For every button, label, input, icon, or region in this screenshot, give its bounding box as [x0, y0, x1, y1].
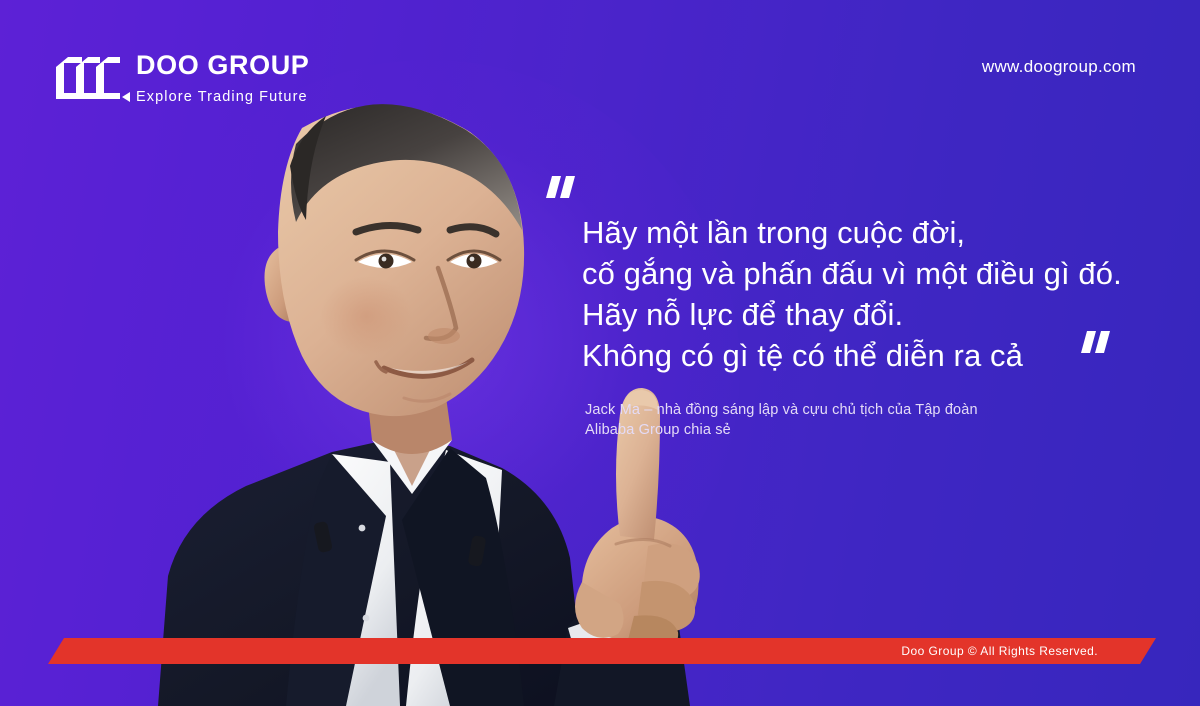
attribution-line: Alibaba Group chia sẻ — [585, 420, 978, 440]
quote-line: Không có gì tệ có thể diễn ra cả — [582, 335, 1165, 376]
website-url[interactable]: www.doogroup.com — [982, 57, 1136, 77]
quote-line: Hãy nỗ lực để thay đổi. — [582, 294, 1165, 335]
brand-tagline: Explore Trading Future — [136, 90, 308, 105]
quote-close-icon — [1081, 331, 1115, 353]
quote-line: Hãy một lần trong cuộc đời, — [582, 212, 1165, 253]
footer-bar: Doo Group © All Rights Reserved. — [48, 638, 1156, 664]
copyright-text: Doo Group © All Rights Reserved. — [901, 644, 1156, 658]
attribution-line: Jack Ma – nhà đồng sáng lập và cựu chủ t… — [585, 400, 978, 420]
quote-text: Hãy một lần trong cuộc đời, cố gắng và p… — [582, 212, 1165, 376]
quote-open-icon — [546, 176, 580, 198]
doo-logo-mark-icon — [52, 53, 122, 103]
quote-line: cố gắng và phấn đấu vì một điều gì đó. — [582, 253, 1165, 294]
brand-logo[interactable]: DOO GROUP Explore Trading Future — [52, 50, 309, 105]
quote-card: DOO GROUP Explore Trading Future www.doo… — [0, 0, 1200, 706]
brand-title: DOO GROUP — [136, 52, 309, 79]
quote-attribution: Jack Ma – nhà đồng sáng lập và cựu chủ t… — [585, 400, 978, 440]
triangle-marker-icon — [122, 92, 130, 102]
quote-block: Hãy một lần trong cuộc đời, cố gắng và p… — [545, 176, 1165, 376]
